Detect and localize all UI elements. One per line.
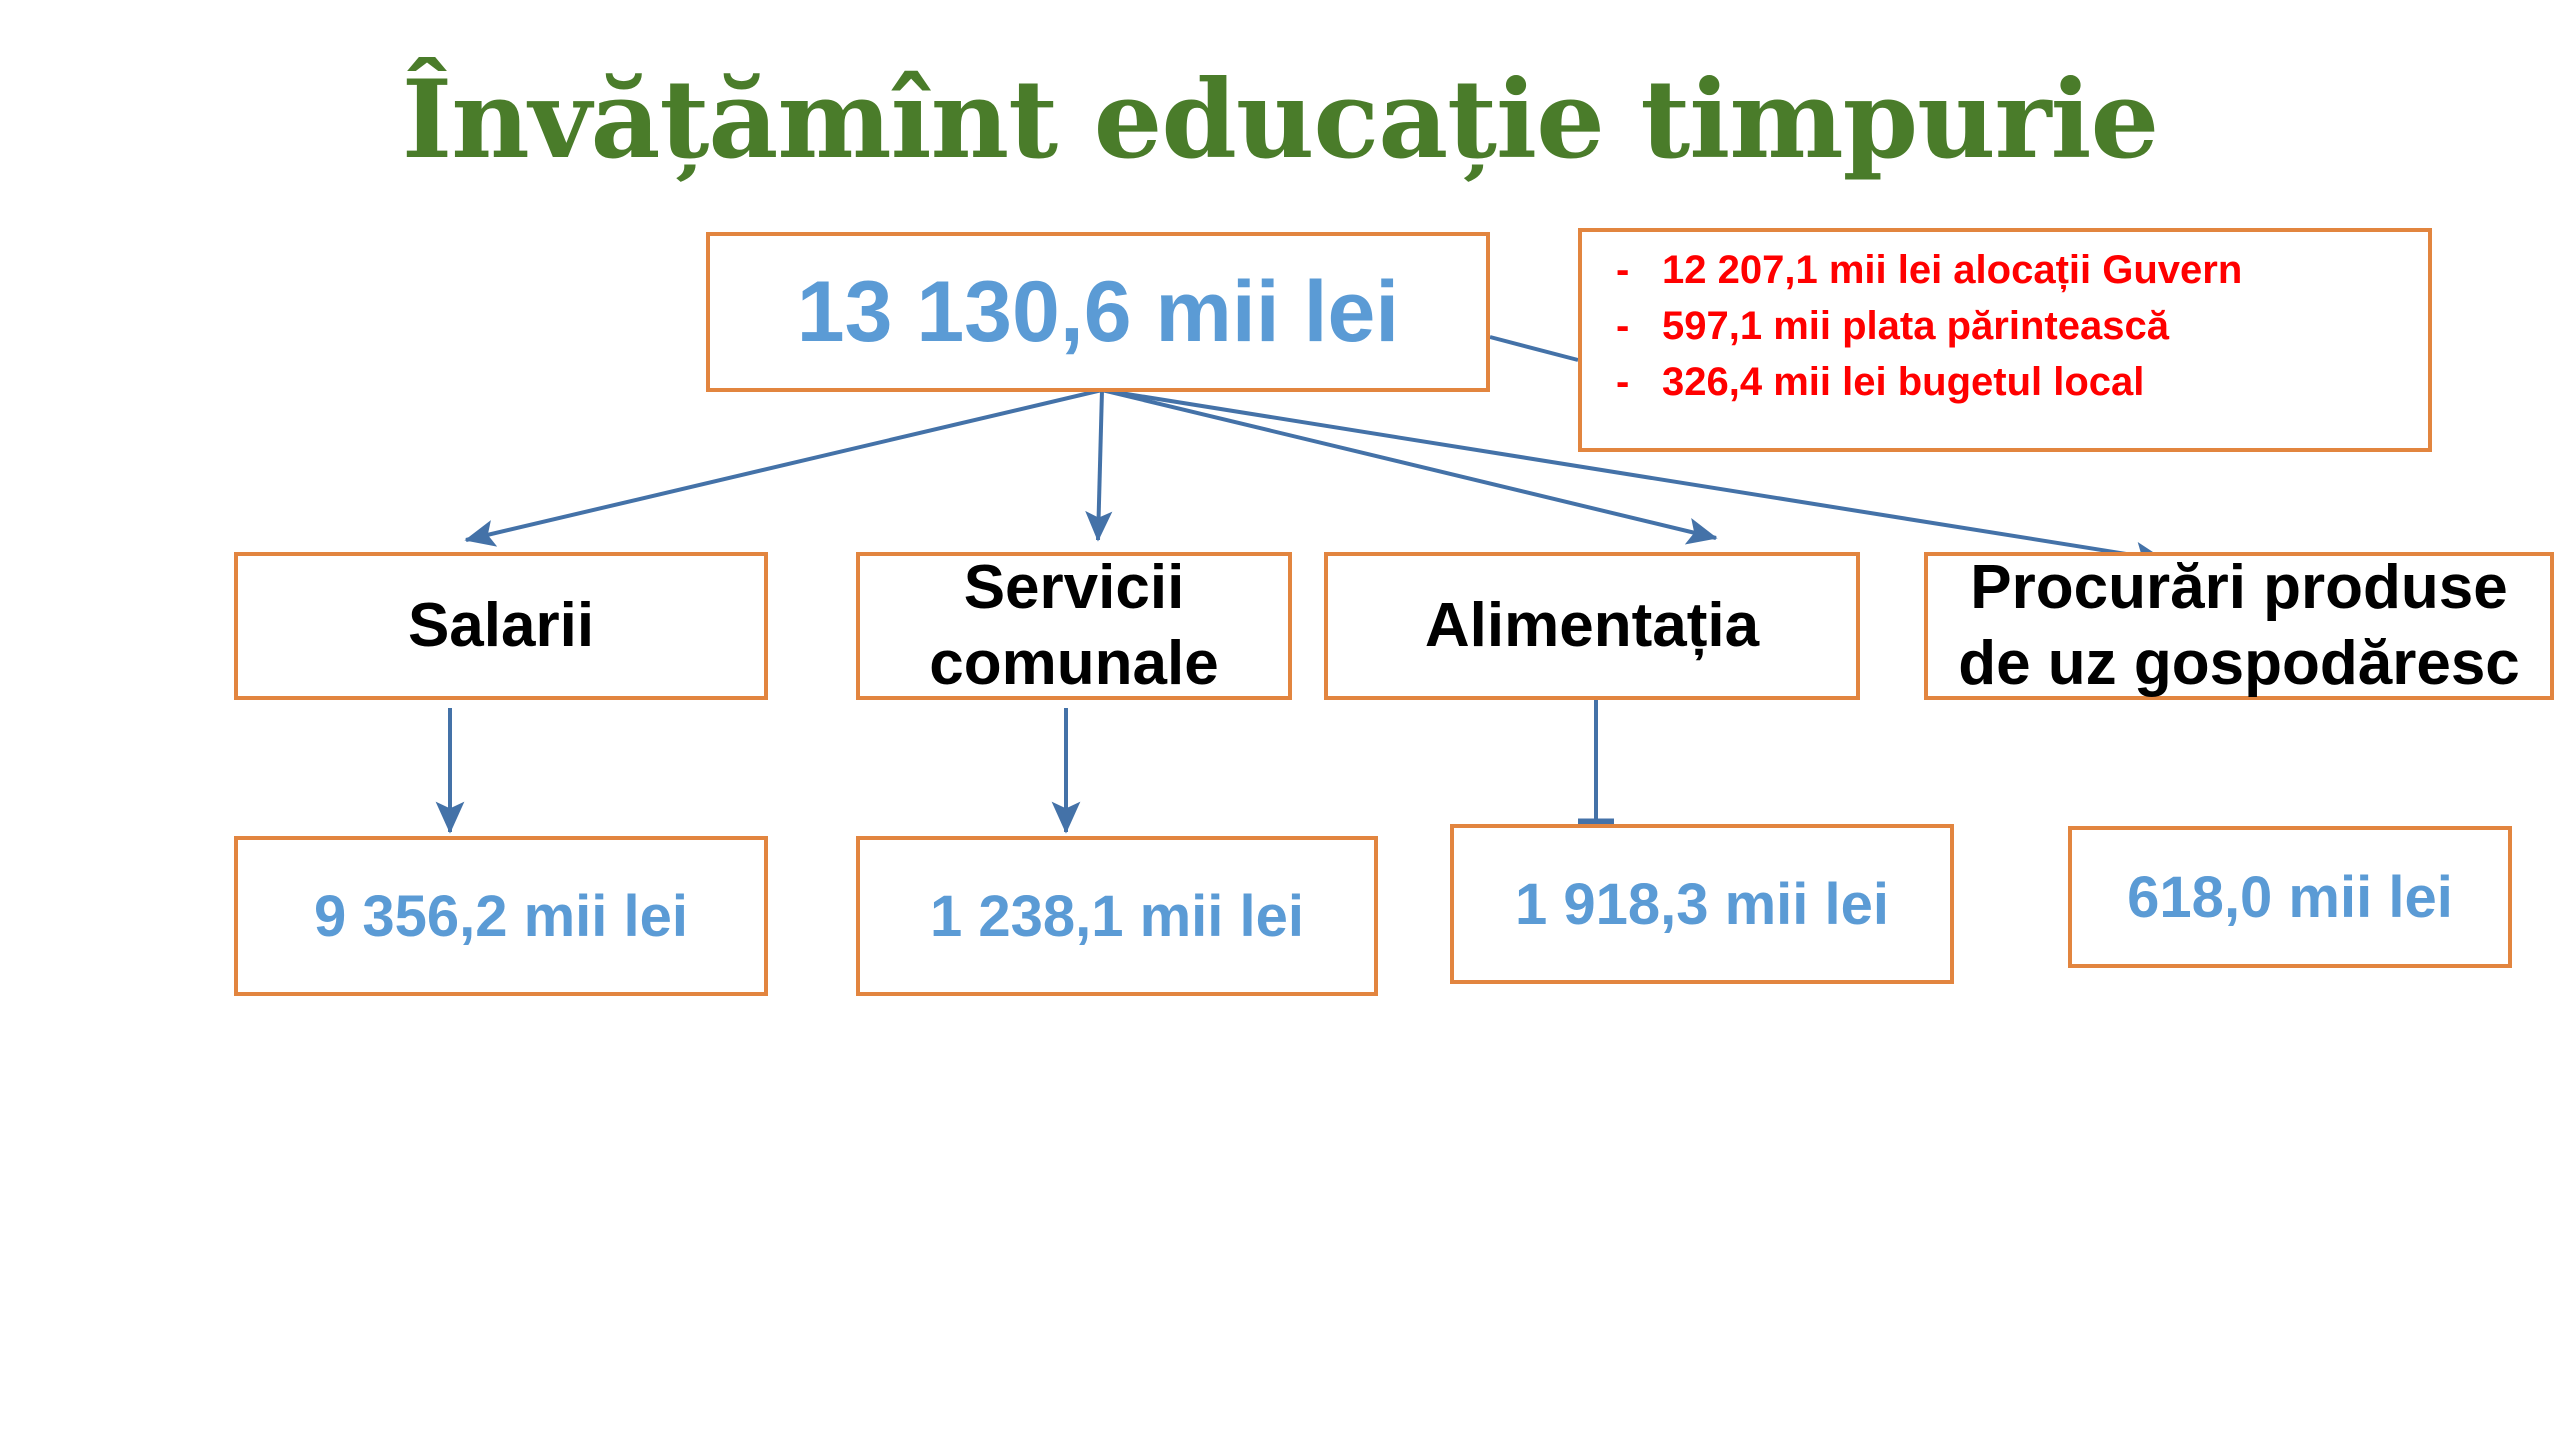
funding-source-label: 12 207,1 mii lei alocații Guvern [1662,250,2242,290]
connector-total-to-sources [1490,337,1578,360]
bullet-dash-icon: - [1616,362,1662,402]
bullet-dash-icon: - [1616,250,1662,290]
arrow-to-salarii [466,390,1102,540]
funding-source-item: - 597,1 mii plata părintească [1582,306,2428,346]
page-title: Învățămînt educație timpurie [0,62,2560,179]
bullet-dash-icon: - [1616,306,1662,346]
slide-canvas: Învățămînt educație timpurie 13 130,6 mi… [0,0,2560,1440]
category-label-line2: comunale [929,629,1218,698]
value-box-procurari: 618,0 mii lei [2068,826,2512,968]
category-box-servicii-comunale: Servicii comunale [856,552,1292,700]
category-box-alimentatia: Alimentația [1324,552,1860,700]
total-amount-label: 13 130,6 mii lei [797,263,1399,362]
funding-source-item: - 12 207,1 mii lei alocații Guvern [1582,250,2428,290]
value-label-procurari: 618,0 mii lei [2127,864,2453,931]
connector-arrows [0,0,2560,1440]
funding-sources-box: - 12 207,1 mii lei alocații Guvern - 597… [1578,228,2432,452]
category-box-salarii: Salarii [234,552,768,700]
category-box-procurari: Procurări produse de uz gospodăresc [1924,552,2554,700]
category-label-alimentatia: Alimentația [1425,588,1759,664]
funding-source-label: 597,1 mii plata părintească [1662,306,2169,346]
category-label-salarii: Salarii [408,588,594,664]
category-label-servicii-comunale: Servicii comunale [929,550,1218,701]
value-box-servicii-comunale: 1 238,1 mii lei [856,836,1378,996]
value-label-servicii-comunale: 1 238,1 mii lei [930,883,1304,950]
category-label-line1: Procurări produse [1970,553,2507,622]
funding-source-item: - 326,4 mii lei bugetul local [1582,362,2428,402]
arrow-to-servicii [1098,390,1102,540]
value-label-salarii: 9 356,2 mii lei [314,883,688,950]
total-amount-box: 13 130,6 mii lei [706,232,1490,392]
category-label-line1: Servicii [964,553,1185,622]
category-label-procurari: Procurări produse de uz gospodăresc [1958,550,2520,701]
funding-source-label: 326,4 mii lei bugetul local [1662,362,2144,402]
category-label-line2: de uz gospodăresc [1958,629,2520,698]
value-box-alimentatia: 1 918,3 mii lei [1450,824,1954,984]
value-label-alimentatia: 1 918,3 mii lei [1515,871,1889,938]
value-box-salarii: 9 356,2 mii lei [234,836,768,996]
